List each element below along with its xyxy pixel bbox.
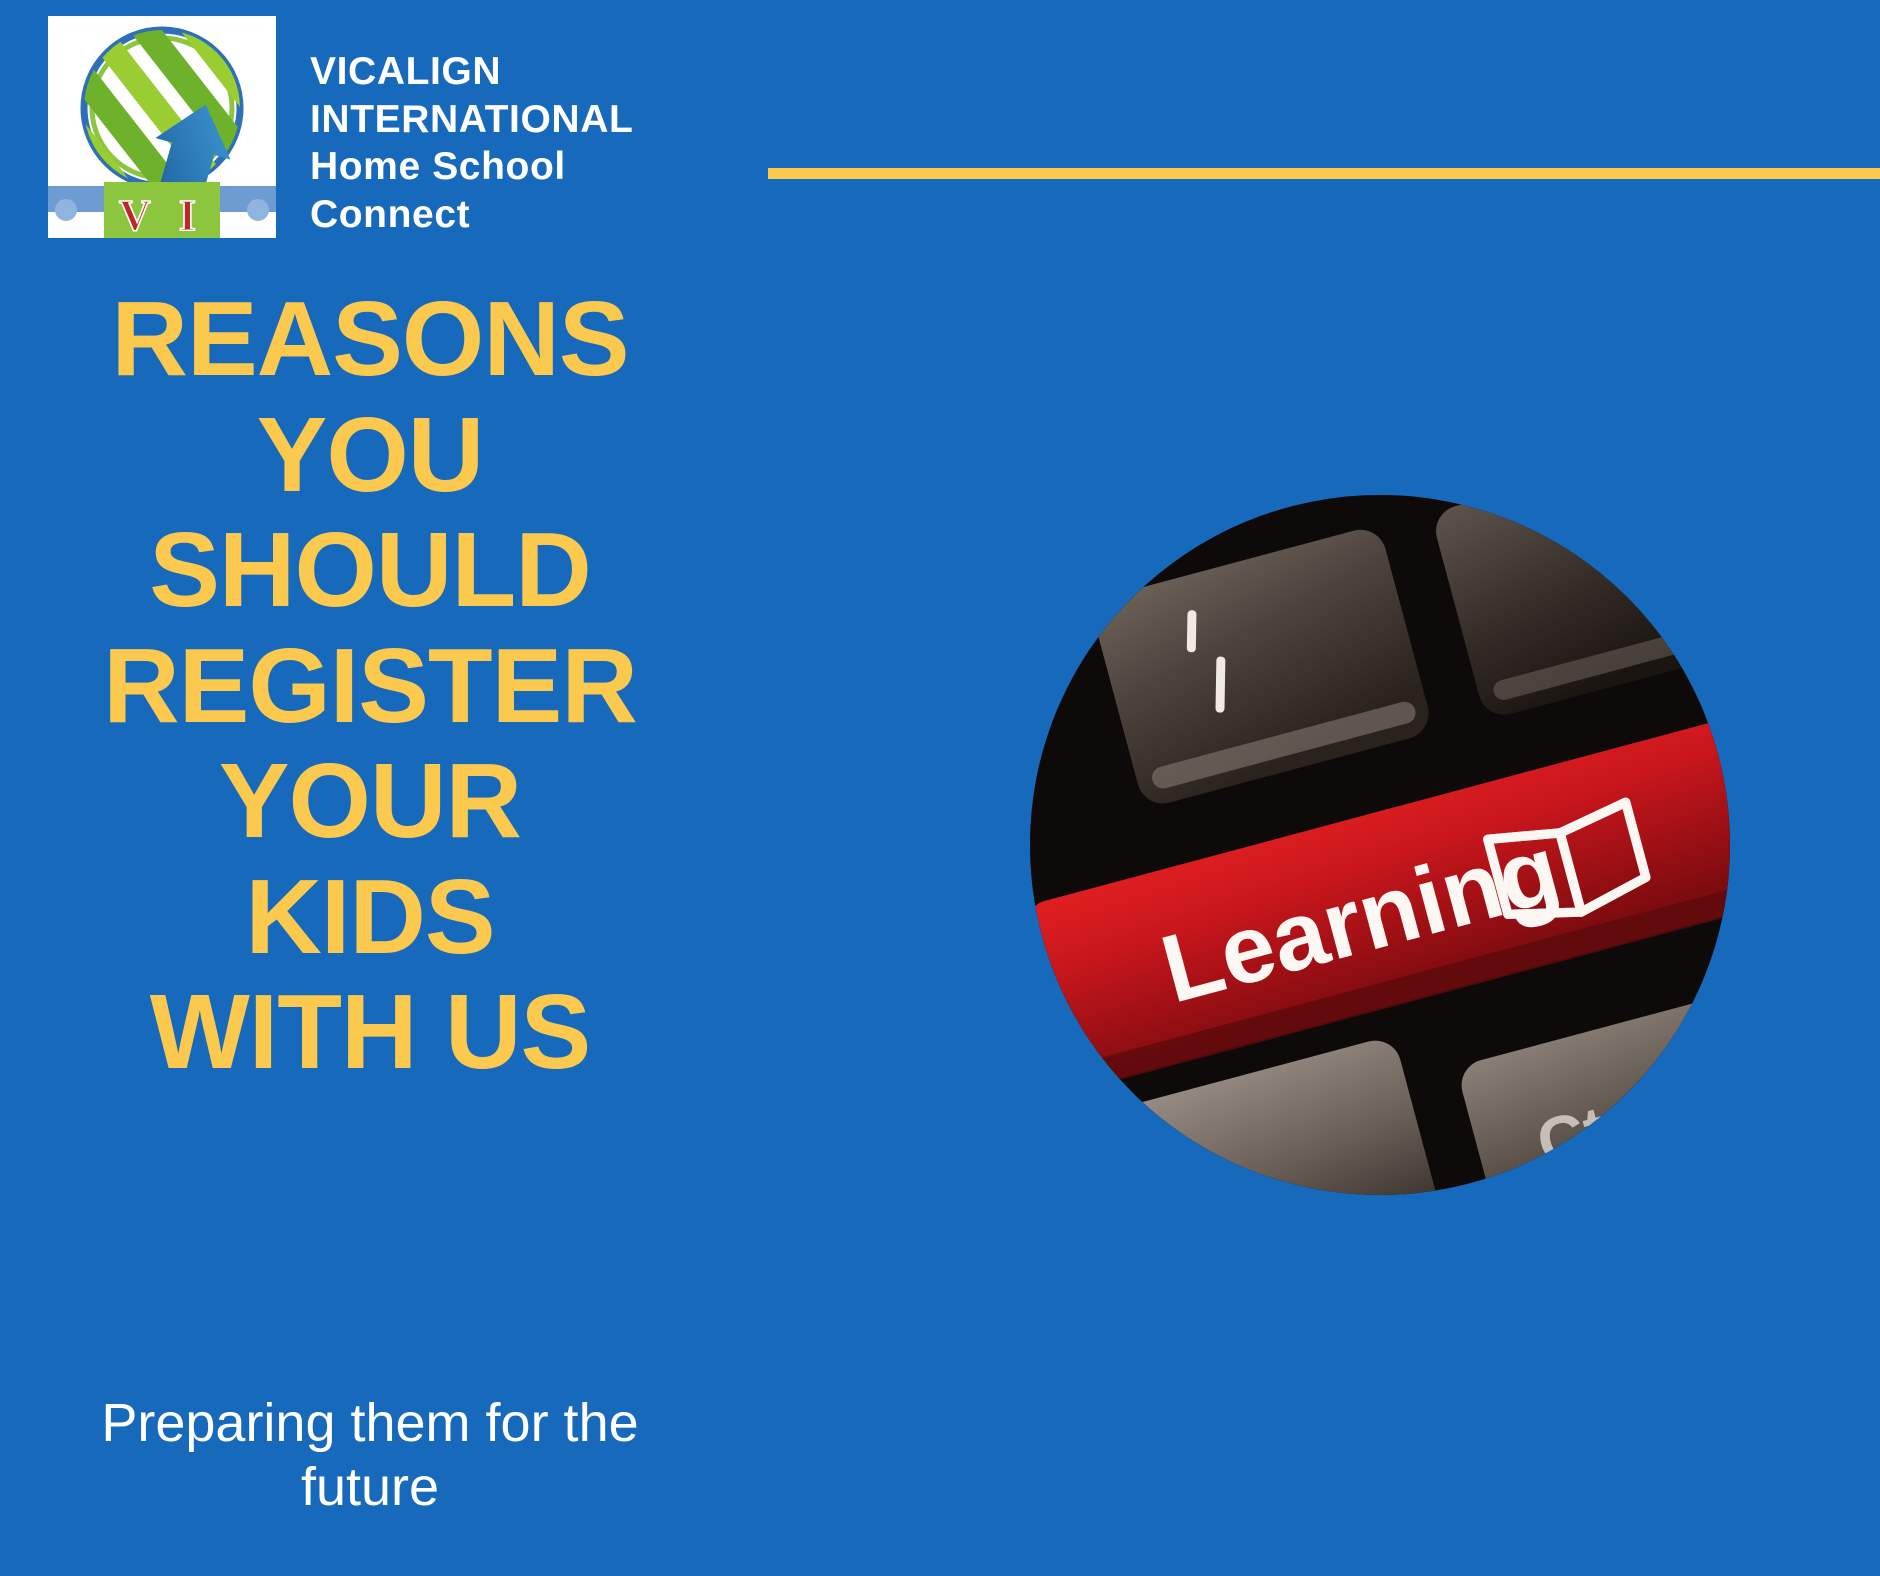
vicalign-logo: V I (48, 16, 276, 238)
headline-line-7: WITH US (60, 975, 680, 1091)
tagline-line-1: Preparing them for the (60, 1392, 680, 1456)
svg-text:V I: V I (119, 191, 205, 238)
logo-artwork: V I (48, 16, 276, 238)
photo-inner: Learning Ct (1030, 495, 1730, 1195)
brand-lockup: V I VICALIGN INTERNATIONAL Home School C… (48, 16, 633, 238)
poster-canvas: V I VICALIGN INTERNATIONAL Home School C… (0, 0, 1880, 1576)
brand-name-block: VICALIGN INTERNATIONAL Home School Conne… (310, 16, 633, 238)
headline-line-5: YOUR (60, 744, 680, 860)
headline-line-3: SHOULD (60, 513, 680, 629)
learning-key-photo: Learning Ct (1030, 495, 1730, 1195)
page-subtitle: Preparing them for the future (60, 1392, 680, 1519)
headline-line-2: YOU (60, 398, 680, 514)
page-title: REASONS YOU SHOULD REGISTER YOUR KIDS WI… (60, 282, 680, 1091)
headline-line-1: REASONS (60, 282, 680, 398)
brand-line-3: Home School (310, 143, 633, 191)
brand-line-2: INTERNATIONAL (310, 96, 633, 144)
headline-line-4: REGISTER (60, 629, 680, 745)
header-divider-rule (768, 168, 1880, 179)
brand-line-1: VICALIGN (310, 48, 633, 96)
brand-line-4: Connect (310, 191, 633, 239)
headline-line-6: KIDS (60, 860, 680, 976)
keyboard-illustration: Learning Ct (1030, 495, 1730, 1195)
tagline-line-2: future (60, 1456, 680, 1520)
